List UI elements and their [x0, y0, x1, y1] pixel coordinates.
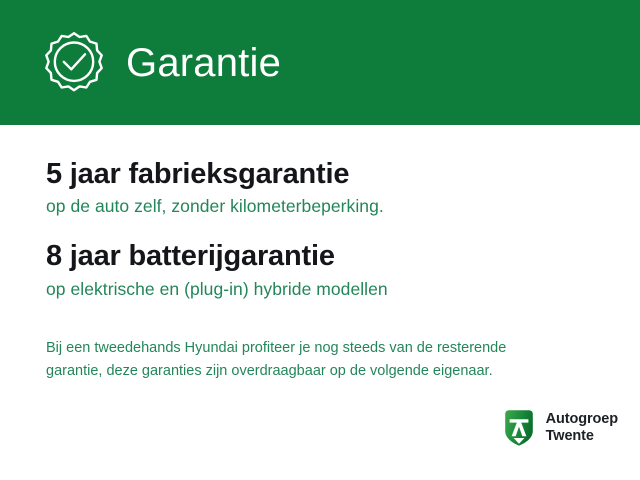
card-header: Garantie	[0, 0, 640, 125]
warranty-heading-battery: 8 jaar batterijgarantie	[46, 240, 594, 273]
page-title: Garantie	[126, 43, 281, 83]
warranty-heading-factory: 5 jaar fabrieksgarantie	[46, 158, 594, 191]
dealer-logo: Autogroep Twente	[501, 409, 618, 447]
warranty-subheading-factory: op de auto zelf, zonder kilometerbeperki…	[46, 196, 594, 217]
garantie-info-card: Garantie 5 jaar fabrieksgarantie op de a…	[0, 0, 640, 480]
transfer-note: Bij een tweedehands Hyundai profiteer je…	[46, 300, 594, 384]
transfer-note-line-1: Bij een tweedehands Hyundai profiteer je…	[46, 337, 594, 360]
transfer-note-line-2: garantie, deze garanties zijn overdraagb…	[46, 360, 594, 383]
warranty-block-factory: 5 jaar fabrieksgarantie op de auto zelf,…	[46, 125, 594, 217]
verified-badge-check-icon	[40, 29, 108, 97]
warranty-subheading-battery: op elektrische en (plug-in) hybride mode…	[46, 279, 594, 300]
dealer-name-line-1: Autogroep	[546, 411, 618, 428]
warranty-block-battery: 8 jaar batterijgarantie op elektrische e…	[46, 217, 594, 299]
autogroep-twente-shield-logo-icon	[501, 409, 537, 447]
dealer-name-line-2: Twente	[546, 428, 618, 445]
dealer-logo-text: Autogroep Twente	[546, 411, 618, 445]
